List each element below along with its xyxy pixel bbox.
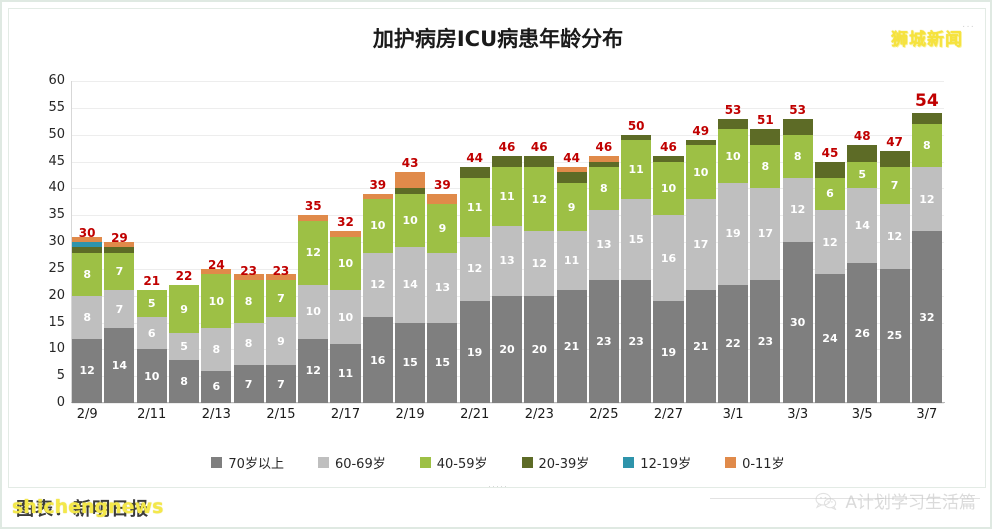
bar-segment[interactable]	[427, 194, 457, 205]
bar-total-label: 39	[363, 178, 393, 192]
bar-segment[interactable]: 17	[686, 199, 716, 290]
x-axis-tick: 2/23	[506, 407, 572, 422]
bar-segment[interactable]: 12	[298, 221, 328, 285]
x-axis-tick: 3/3	[765, 407, 831, 422]
bar-total-label: 23	[234, 264, 264, 278]
bar-column[interactable]: 51426	[847, 145, 877, 403]
bar-column[interactable]: 81232	[912, 113, 942, 403]
bar-segment[interactable]: 13	[492, 226, 522, 296]
bar-total-label: 35	[298, 199, 328, 213]
y-axis-tick: 15	[13, 315, 65, 330]
bar-segment[interactable]: 5	[847, 162, 877, 189]
x-axis-tick: 2/21	[442, 407, 508, 422]
x-axis-tick: 3/1	[700, 407, 766, 422]
bar-segment[interactable]: 13	[427, 253, 457, 323]
y-axis-tick: 30	[13, 234, 65, 249]
corner-dots: ···	[962, 21, 975, 32]
legend-label: 60-69岁	[335, 453, 386, 472]
bar-segment[interactable]: 21	[686, 290, 716, 403]
x-axis-tick: 2/17	[313, 407, 379, 422]
footer-account: A计划学习生活篇	[815, 488, 976, 513]
bar-segment[interactable]: 11	[460, 178, 490, 237]
bar-total-label: 46	[492, 140, 522, 154]
bar-segment[interactable]: 20	[492, 296, 522, 403]
x-axis-tick: 2/27	[636, 407, 702, 422]
bar-segment[interactable]: 14	[104, 328, 134, 403]
bar-column[interactable]: 81723	[750, 129, 780, 403]
bar-segment[interactable]: 6	[201, 371, 231, 403]
legend-item-5[interactable]: 0-11岁	[725, 453, 785, 472]
y-axis-tick: 60	[13, 73, 65, 88]
bar-segment[interactable]	[492, 156, 522, 167]
site-watermark: shichengnews	[12, 496, 163, 518]
y-axis-tick: 35	[13, 207, 65, 222]
bar-segment[interactable]	[460, 167, 490, 178]
bar-column[interactable]: 111219	[460, 167, 490, 403]
bar-segment[interactable]: 15	[427, 323, 457, 404]
bar-segment[interactable]: 9	[266, 317, 296, 365]
bar-column[interactable]: 101721	[686, 140, 716, 403]
legend-item-2[interactable]: 40-59岁	[420, 453, 488, 472]
bar-segment[interactable]: 23	[750, 280, 780, 403]
legend-label: 40-59岁	[437, 453, 488, 472]
bar-total-label: 49	[686, 124, 716, 138]
bar-segment[interactable]: 14	[395, 247, 425, 322]
bar-total-label: 51	[750, 113, 780, 127]
bar-segment[interactable]: 6	[137, 317, 167, 349]
bar-total-label: 21	[137, 274, 167, 288]
bar-column[interactable]: 887	[234, 274, 264, 403]
x-axis: 2/92/112/132/152/172/192/212/232/252/273…	[71, 407, 943, 431]
bar-series-group: 8812307714295610219582210862488723797231…	[71, 81, 943, 403]
bar-segment[interactable]: 12	[783, 178, 813, 242]
bar-segment[interactable]: 10	[298, 285, 328, 339]
bar-segment[interactable]: 12	[363, 253, 393, 317]
y-axis-tick: 5	[13, 368, 65, 383]
bar-segment[interactable]: 10	[653, 162, 683, 216]
chart-card: 加护病房ICU病患年龄分布 ··· 狮城新闻 60555045403530252…	[8, 8, 986, 488]
bar-column[interactable]: 111320	[492, 156, 522, 403]
bar-segment[interactable]: 12	[524, 167, 554, 231]
y-axis-tick: 25	[13, 261, 65, 276]
bar-segment[interactable]: 25	[880, 269, 910, 403]
bar-segment[interactable]: 10	[686, 145, 716, 199]
bar-segment[interactable]: 23	[589, 280, 619, 403]
y-axis-tick: 10	[13, 341, 65, 356]
bar-total-label: 45	[815, 146, 845, 160]
bar-segment[interactable]: 30	[783, 242, 813, 403]
bar-segment[interactable]: 32	[912, 231, 942, 403]
bar-total-label: 23	[266, 264, 296, 278]
bar-segment[interactable]: 7	[880, 167, 910, 205]
bar-segment[interactable]: 12	[298, 339, 328, 403]
bar-segment[interactable]: 16	[363, 317, 393, 403]
bar-column[interactable]: 101619	[653, 156, 683, 403]
bar-segment[interactable]: 10	[330, 290, 360, 344]
bar-segment[interactable]: 23	[621, 280, 651, 403]
bar-column[interactable]: 81323	[589, 156, 619, 403]
bar-segment[interactable]: 12	[815, 210, 845, 274]
bar-segment[interactable]: 9	[427, 204, 457, 252]
bar-segment[interactable]	[750, 129, 780, 145]
bar-segment[interactable]	[557, 172, 587, 183]
legend-label: 20-39岁	[539, 453, 590, 472]
bar-total-label: 44	[557, 151, 587, 165]
bar-segment[interactable]: 11	[330, 344, 360, 403]
bar-total-label: 53	[718, 103, 748, 117]
bar-segment[interactable]: 8	[750, 145, 780, 188]
bar-segment[interactable]: 12	[880, 204, 910, 268]
y-axis: 605550454035302520151050	[9, 81, 65, 403]
bar-total-label: 32	[330, 215, 360, 229]
bar-segment[interactable]	[524, 156, 554, 167]
bar-segment[interactable]: 5	[137, 290, 167, 317]
legend-item-4[interactable]: 12-19岁	[623, 453, 691, 472]
y-axis-tick: 50	[13, 127, 65, 142]
bar-segment[interactable]: 8	[169, 360, 199, 403]
bar-segment[interactable]: 11	[557, 231, 587, 290]
bar-column[interactable]: 8812	[72, 237, 102, 403]
bar-segment[interactable]: 7	[266, 280, 296, 318]
bar-column[interactable]: 958	[169, 285, 199, 403]
bar-segment[interactable]: 19	[460, 301, 490, 403]
y-axis-tick: 45	[13, 154, 65, 169]
bar-total-label: 50	[621, 119, 651, 133]
bar-segment[interactable]: 26	[847, 263, 877, 403]
bar-segment[interactable]	[912, 113, 942, 124]
bar-segment[interactable]: 16	[653, 215, 683, 301]
bar-segment[interactable]: 8	[72, 253, 102, 296]
legend: 70岁以上60-69岁40-59岁20-39岁12-19岁0-11岁	[9, 453, 987, 472]
bar-segment[interactable]: 11	[492, 167, 522, 226]
bar-column[interactable]: 61224	[815, 162, 845, 403]
bar-segment[interactable]	[718, 119, 748, 130]
bar-segment[interactable]: 8	[234, 323, 264, 366]
bar-segment[interactable]: 14	[847, 188, 877, 263]
bar-segment[interactable]: 5	[169, 333, 199, 360]
legend-swatch-icon	[420, 457, 431, 468]
bar-total-label: 46	[653, 140, 683, 154]
legend-label: 70岁以上	[228, 453, 284, 472]
bar-segment[interactable]: 9	[169, 285, 199, 333]
bar-total-label: 47	[880, 135, 910, 149]
bar-column[interactable]: 101011	[330, 231, 360, 403]
page-title: 加护病房ICU病患年龄分布	[9, 23, 987, 53]
legend-swatch-icon	[211, 457, 222, 468]
bar-segment[interactable]: 7	[104, 290, 134, 328]
x-axis-tick: 2/9	[54, 407, 120, 422]
wechat-icon	[815, 492, 837, 510]
bar-segment[interactable]: 10	[330, 237, 360, 291]
bar-segment[interactable]: 20	[524, 296, 554, 403]
bar-segment[interactable]: 10	[363, 199, 393, 253]
bar-segment[interactable]: 10	[201, 274, 231, 328]
y-axis-tick: 55	[13, 100, 65, 115]
bar-column[interactable]: 91315	[427, 194, 457, 403]
x-axis-tick: 3/7	[894, 407, 960, 422]
bar-total-label: 43	[395, 156, 425, 170]
bar-column[interactable]: 797	[266, 274, 296, 403]
bar-segment[interactable]	[847, 145, 877, 161]
brand-watermark: 狮城新闻	[891, 25, 963, 50]
bar-segment[interactable]	[880, 151, 910, 167]
bar-total-label: 29	[104, 231, 134, 245]
bar-segment[interactable]: 12	[524, 231, 554, 295]
legend-item-1[interactable]: 60-69岁	[318, 453, 386, 472]
gridline	[72, 403, 944, 404]
legend-swatch-icon	[725, 457, 736, 468]
bar-segment[interactable]	[815, 162, 845, 178]
bar-segment[interactable]: 10	[137, 349, 167, 403]
legend-swatch-icon	[623, 457, 634, 468]
bar-segment[interactable]	[783, 119, 813, 135]
bar-segment[interactable]: 7	[266, 365, 296, 403]
bar-total-label: 46	[589, 140, 619, 154]
bar-segment[interactable]: 6	[815, 178, 845, 210]
bar-column[interactable]: 101415	[395, 172, 425, 403]
bottom-dots: ·····	[488, 481, 508, 491]
bar-total-label: 54	[912, 91, 942, 111]
bar-segment[interactable]: 8	[912, 124, 942, 167]
bar-column[interactable]: 71225	[880, 151, 910, 403]
legend-item-0[interactable]: 70岁以上	[211, 453, 284, 472]
bar-segment[interactable]: 7	[104, 253, 134, 291]
bar-segment[interactable]: 8	[201, 328, 231, 371]
bar-segment[interactable]: 10	[395, 194, 425, 248]
bar-column[interactable]: 101216	[363, 194, 393, 403]
bar-segment[interactable]: 24	[815, 274, 845, 403]
bar-segment[interactable]: 12	[460, 237, 490, 301]
bar-segment[interactable]: 8	[234, 280, 264, 323]
bar-segment[interactable]: 13	[589, 210, 619, 280]
bar-column[interactable]: 111523	[621, 135, 651, 403]
bar-column[interactable]: 121220	[524, 156, 554, 403]
bar-segment[interactable]: 8	[72, 296, 102, 339]
bar-segment[interactable]: 15	[621, 199, 651, 280]
bar-total-label: 30	[72, 226, 102, 240]
footer-watermark-group: 图表：新明日报 shichengnews	[10, 491, 330, 527]
bar-column[interactable]: 1086	[201, 269, 231, 403]
x-axis-tick: 2/11	[119, 407, 185, 422]
bar-column[interactable]: 7714	[104, 242, 134, 403]
bar-column[interactable]: 5610	[137, 290, 167, 403]
x-axis-tick: 3/5	[829, 407, 895, 422]
bar-segment[interactable]: 19	[718, 183, 748, 285]
legend-swatch-icon	[522, 457, 533, 468]
app-frame: 加护病房ICU病患年龄分布 ··· 狮城新闻 60555045403530252…	[0, 0, 992, 529]
bar-total-label: 39	[427, 178, 457, 192]
bar-column[interactable]: 91121	[557, 167, 587, 403]
bar-segment[interactable]: 7	[234, 365, 264, 403]
bar-segment[interactable]: 12	[72, 339, 102, 403]
x-axis-tick: 2/19	[377, 407, 443, 422]
bar-segment[interactable]: 8	[783, 135, 813, 178]
x-axis-tick: 2/25	[571, 407, 637, 422]
account-name: A计划学习生活篇	[845, 488, 976, 513]
x-axis-tick: 2/15	[248, 407, 314, 422]
bar-total-label: 53	[783, 103, 813, 117]
bar-segment[interactable]: 9	[557, 183, 587, 231]
bar-segment[interactable]: 12	[912, 167, 942, 231]
x-axis-tick: 2/13	[184, 407, 250, 422]
bar-total-label: 22	[169, 269, 199, 283]
bar-segment[interactable]: 19	[653, 301, 683, 403]
bar-total-label: 48	[847, 129, 877, 143]
bar-segment[interactable]: 10	[718, 129, 748, 183]
y-axis-tick: 40	[13, 180, 65, 195]
bar-segment[interactable]: 8	[589, 167, 619, 210]
bar-segment[interactable]: 11	[621, 140, 651, 199]
bar-segment[interactable]: 15	[395, 323, 425, 404]
bar-column[interactable]: 121012	[298, 215, 328, 403]
legend-label: 0-11岁	[742, 453, 785, 472]
bar-total-label: 46	[524, 140, 554, 154]
bar-segment[interactable]: 21	[557, 290, 587, 403]
bar-total-label: 24	[201, 258, 231, 272]
legend-swatch-icon	[318, 457, 329, 468]
y-axis-tick: 20	[13, 288, 65, 303]
bar-segment[interactable]	[395, 172, 425, 188]
legend-item-3[interactable]: 20-39岁	[522, 453, 590, 472]
bar-column[interactable]: 81230	[783, 119, 813, 403]
bar-segment[interactable]: 17	[750, 188, 780, 279]
bar-column[interactable]: 101922	[718, 119, 748, 403]
bar-segment[interactable]: 22	[718, 285, 748, 403]
legend-label: 12-19岁	[640, 453, 691, 472]
bar-total-label: 44	[460, 151, 490, 165]
